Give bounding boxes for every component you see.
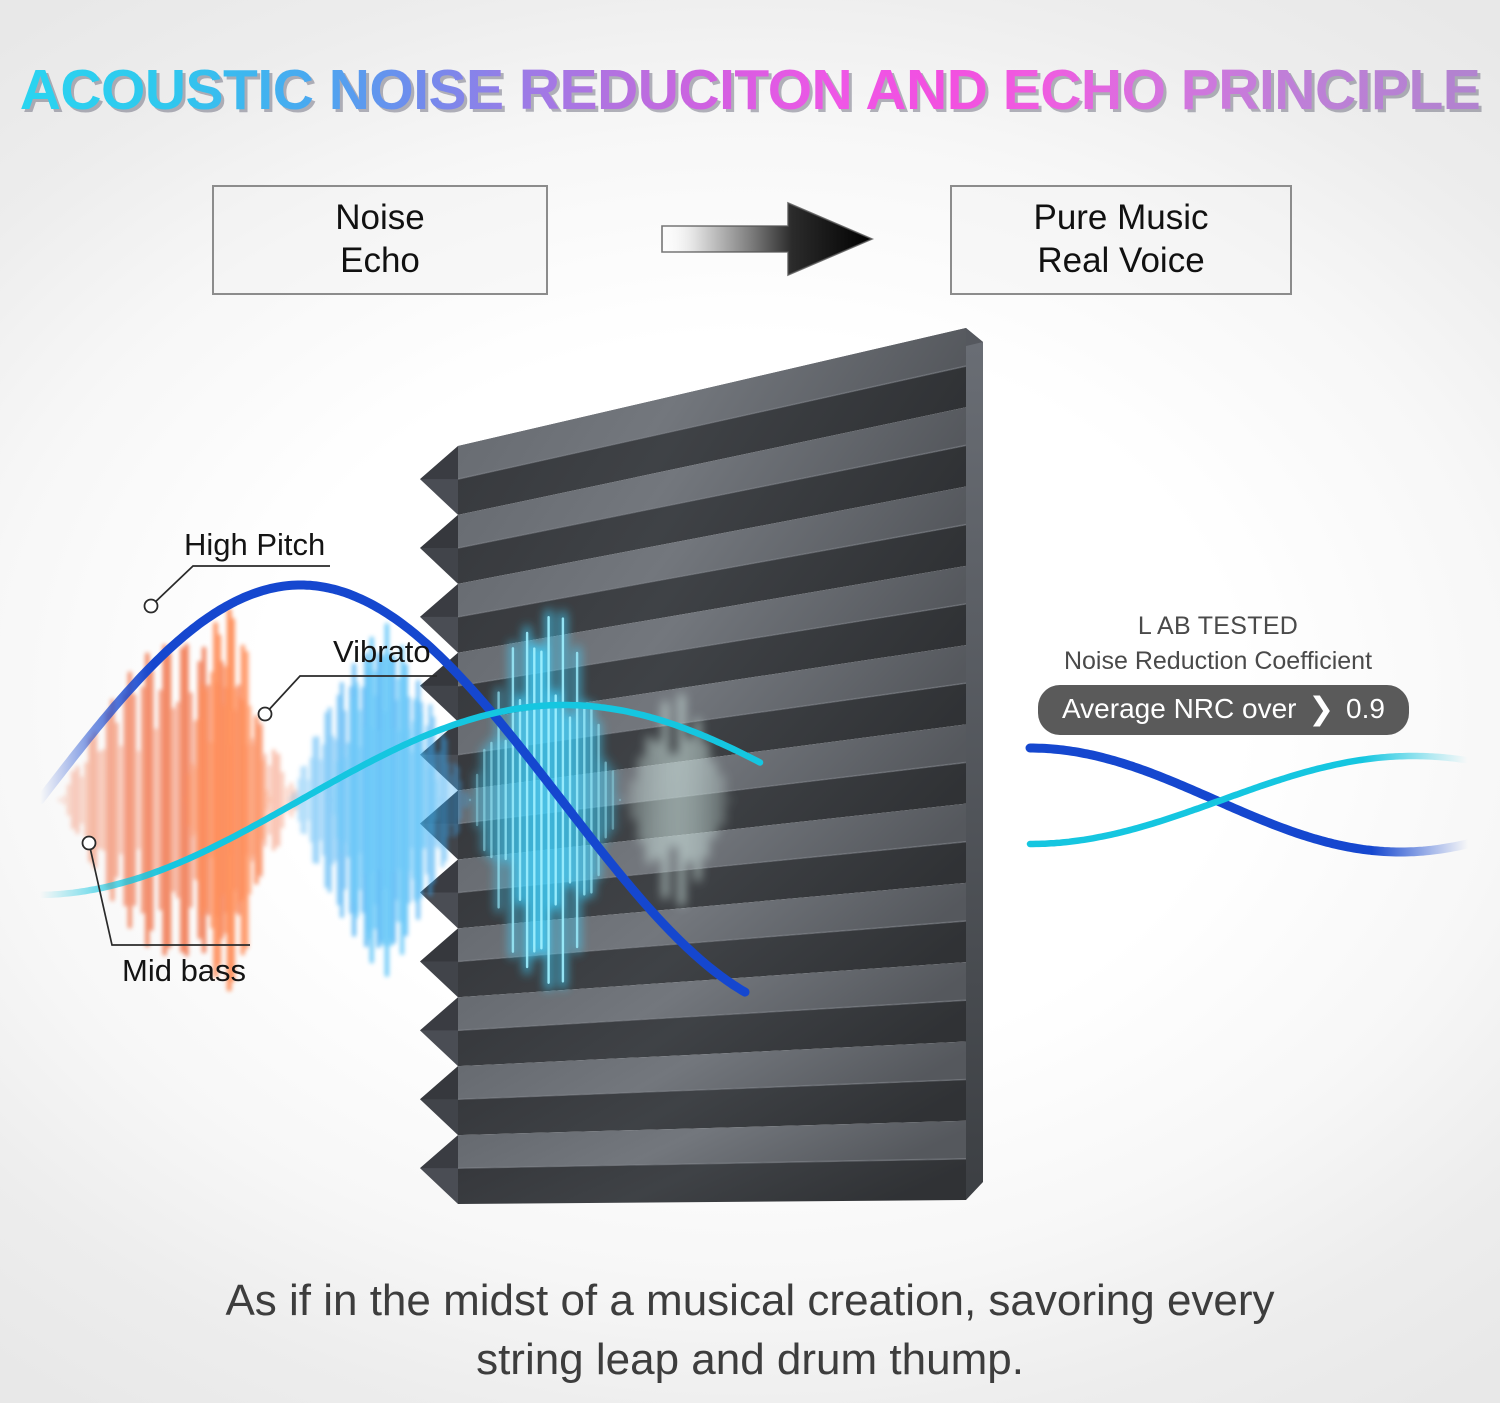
nrc-badge-block: L AB TESTED Noise Reduction Coefficient … (1038, 610, 1398, 735)
input-box-line1: Noise (335, 197, 424, 240)
anchor-dot-high-pitch (145, 600, 158, 613)
bottom-caption-line2: string leap and drum thump. (90, 1331, 1410, 1390)
anchor-dot-mid-bass (83, 837, 96, 850)
page-title: ACOUSTIC NOISE REDUCITON AND ECHO PRINCI… (0, 57, 1500, 123)
nrc-value-pill: Average NRC over ❯ 0.9 (1038, 685, 1409, 735)
nrc-pill-value: 0.9 (1346, 693, 1385, 724)
wave-cyan-outgoing (1030, 756, 1468, 844)
output-box-pure-music: Pure Music Real Voice (950, 185, 1292, 295)
bottom-caption-line1: As if in the midst of a musical creation… (90, 1272, 1410, 1331)
bottom-caption: As if in the midst of a musical creation… (90, 1272, 1410, 1389)
input-box-line2: Echo (335, 240, 424, 283)
nrc-lab-tested: L AB TESTED (1038, 610, 1398, 644)
low-frequency-spikes (60, 611, 300, 989)
wave-blue-outgoing (1030, 748, 1468, 852)
callout-label-high-pitch: High Pitch (184, 527, 325, 563)
output-box-line2: Real Voice (1033, 240, 1208, 283)
leader-line-vibrato (265, 676, 437, 714)
input-box-noise-echo: Noise Echo (212, 185, 548, 295)
nrc-coefficient-label: Noise Reduction Coefficient (1038, 644, 1398, 679)
greater-than-icon: ❯ (1304, 691, 1338, 726)
page-title-text: ACOUSTIC NOISE REDUCITON AND ECHO PRINCI… (20, 58, 1481, 122)
infographic-canvas: ACOUSTIC NOISE REDUCITON AND ECHO PRINCI… (0, 0, 1500, 1403)
acoustic-foam-panel (418, 320, 1028, 1270)
output-box-line1: Pure Music (1033, 197, 1208, 240)
right-arrow-icon (660, 195, 890, 283)
leader-line-high-pitch (151, 566, 330, 606)
nrc-pill-prefix: Average NRC over (1062, 693, 1296, 724)
leader-line-mid-bass (89, 843, 250, 945)
anchor-dot-vibrato (259, 708, 272, 721)
callout-label-mid-bass: Mid bass (122, 953, 246, 989)
callout-label-vibrato: Vibrato (333, 634, 431, 670)
